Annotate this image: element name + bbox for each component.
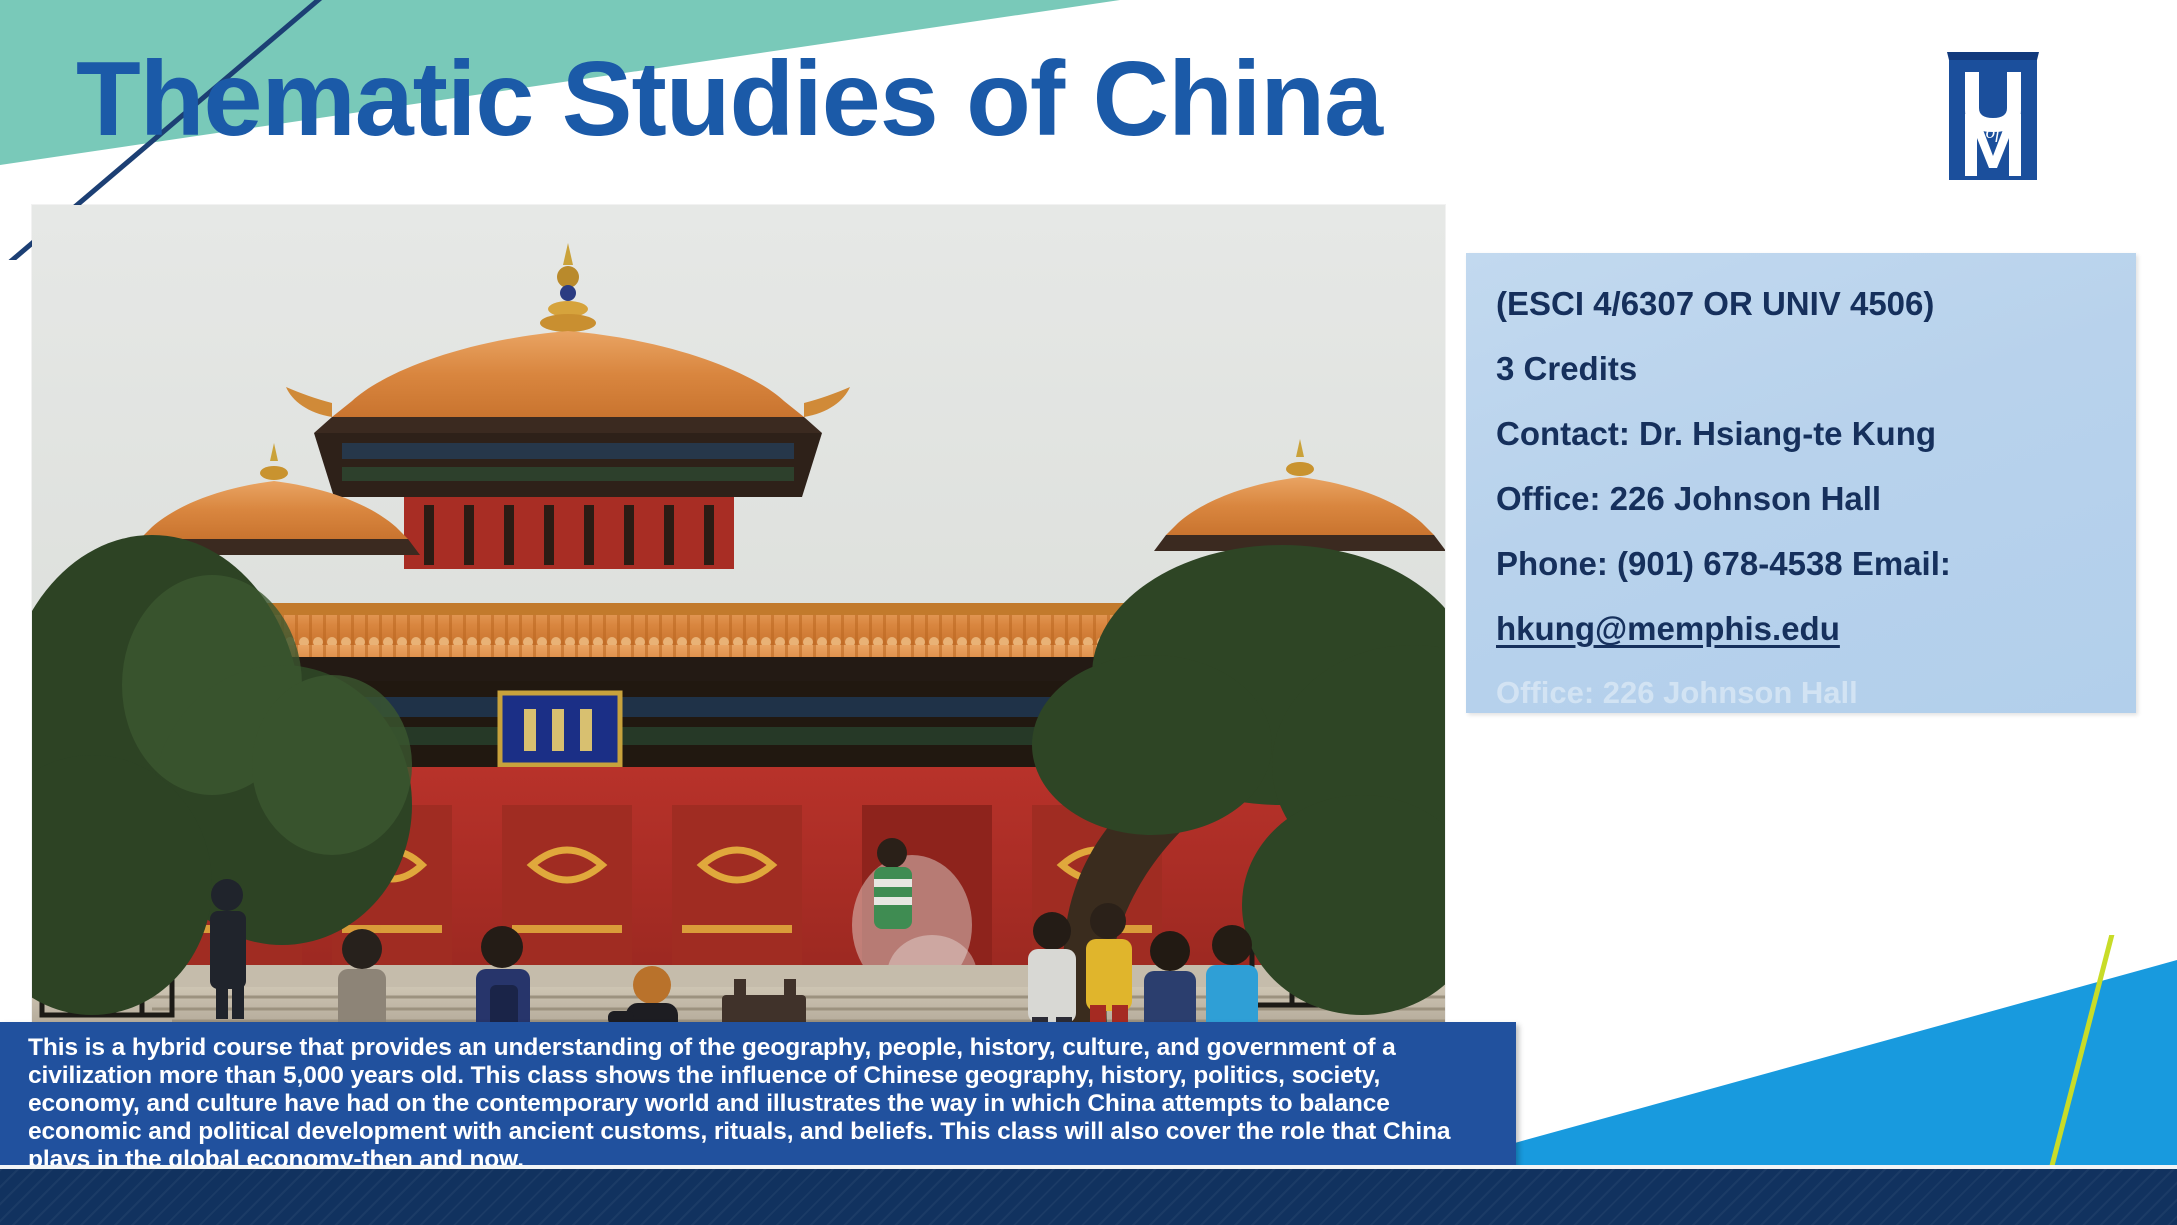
course-description-box: This is a hybrid course that provides an… (0, 1022, 1516, 1172)
course-code-line: (ESCI 4/6307 OR UNIV 4506) (1496, 287, 2106, 320)
course-description-text: This is a hybrid course that provides an… (28, 1034, 1488, 1174)
yellow-diagonal-line-decoration (1917, 935, 2177, 1175)
office-line: Office: 226 Johnson Hall (1496, 482, 2106, 515)
ghost-office-line: Office: 226 Johnson Hall (1496, 677, 2106, 708)
phone-email-line: Phone: (901) 678-4538 Email: (1496, 547, 2106, 580)
credits-line: 3 Credits (1496, 352, 2106, 385)
email-link[interactable]: hkung@memphis.edu (1496, 612, 2106, 645)
temple-photo (32, 205, 1445, 1027)
bottom-navy-bar (0, 1169, 2177, 1225)
slide-canvas: Thematic Studies of China of (0, 0, 2177, 1225)
university-of-memphis-logo: of (1947, 52, 2039, 180)
ghost-email-line: Email: hkung@memphis.edu (1496, 807, 1921, 842)
page-title: Thematic Studies of China (76, 44, 1382, 155)
bottom-bar-highlight (0, 1165, 2177, 1169)
contact-line: Contact: Dr. Hsiang-te Kung (1496, 417, 2106, 450)
course-info-panel: (ESCI 4/6307 OR UNIV 4506) 3 Credits Con… (1466, 253, 2136, 713)
ghost-phone-line: Phone: (901) 678-4538 (1496, 742, 2106, 773)
